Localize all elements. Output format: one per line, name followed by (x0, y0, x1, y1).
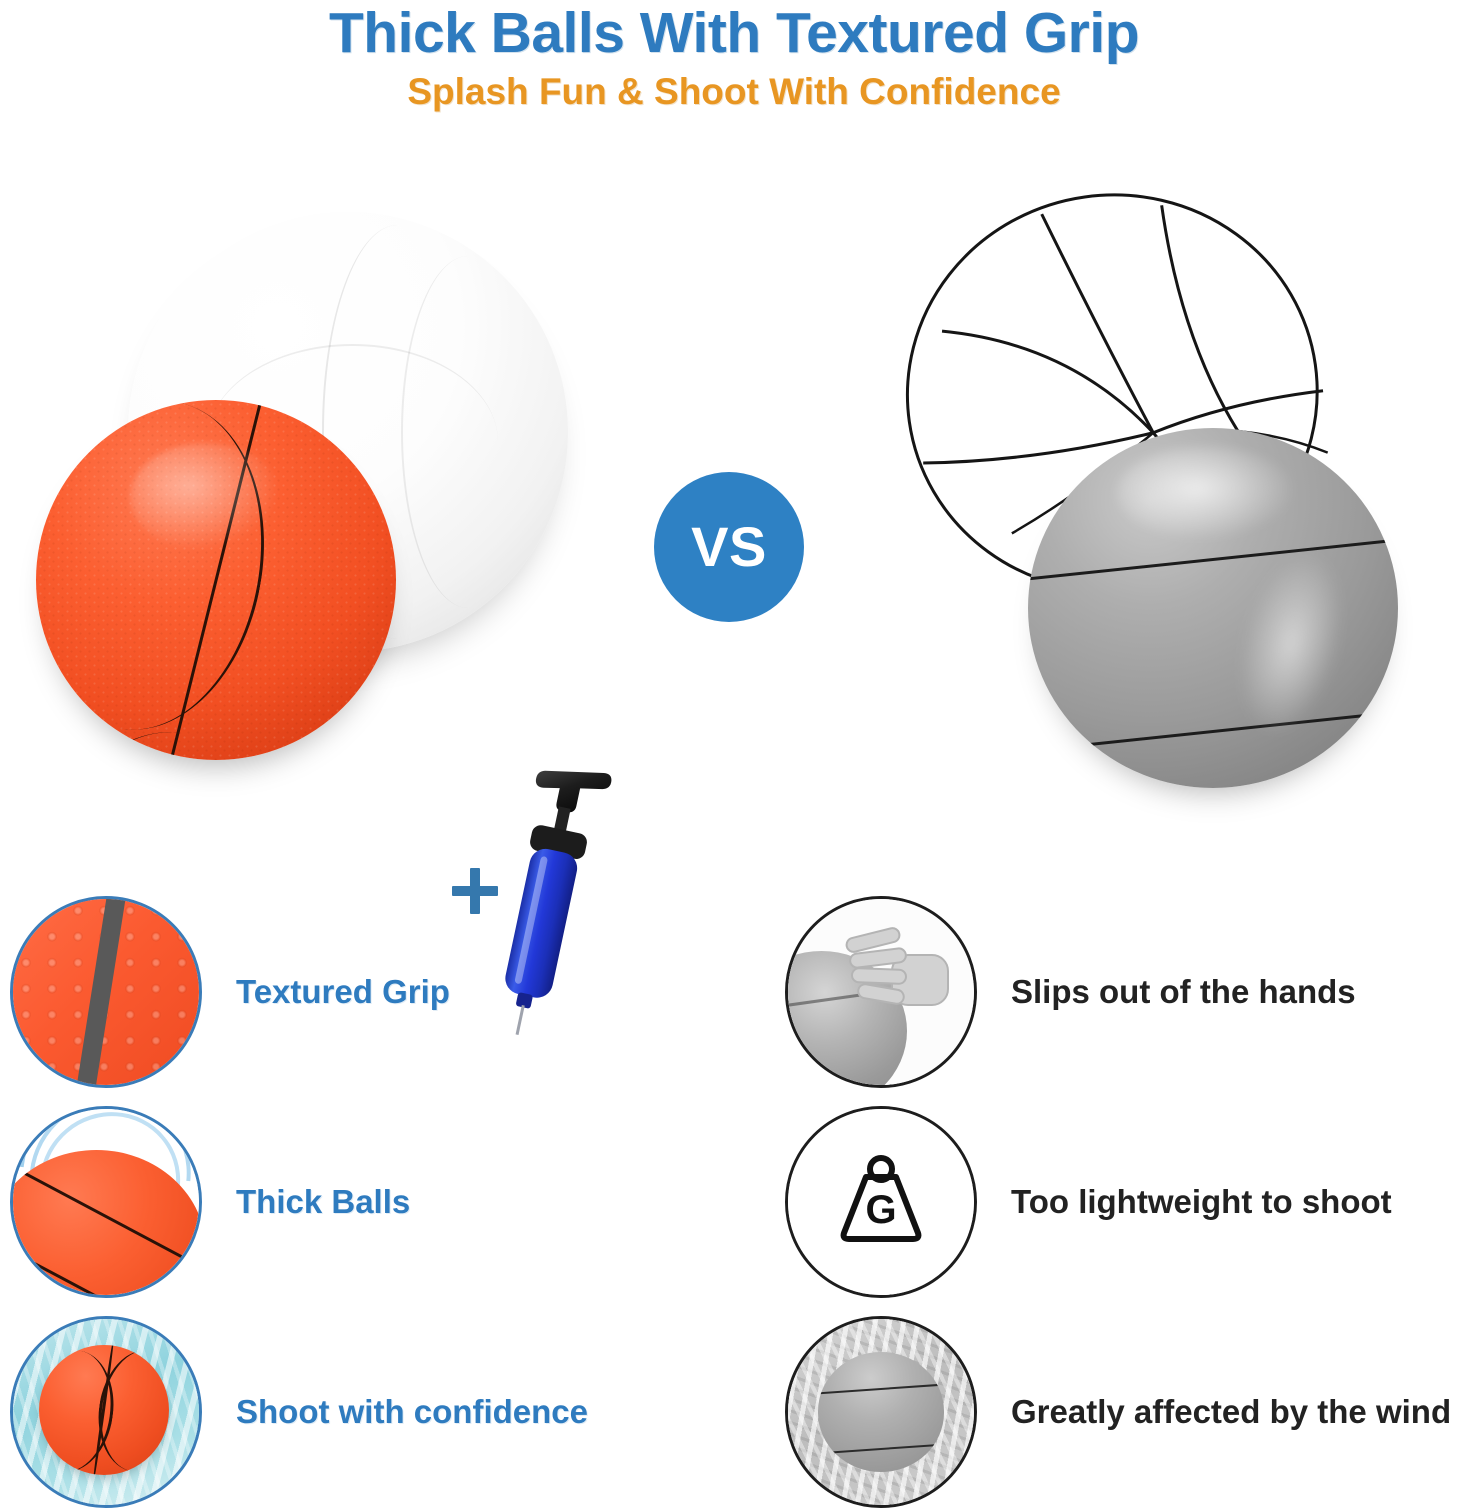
page-subtitle: Splash Fun & Shoot With Confidence (0, 72, 1468, 113)
feature-label: Thick Balls (236, 1183, 410, 1221)
feature-label: Greatly affected by the wind (1011, 1393, 1451, 1431)
basketball-seam (818, 1383, 944, 1395)
gray-basketball-image (1028, 428, 1398, 788)
feature-row-too-lightweight: G Too lightweight to shoot (785, 1102, 1392, 1302)
highlight (130, 443, 281, 551)
weight-icon-wrap: G (788, 1109, 974, 1295)
hand-and-ball-photo (788, 899, 974, 1085)
feature-row-shoot-confidence: Shoot with confidence (10, 1312, 588, 1512)
feature-row-affected-by-wind: Greatly affected by the wind (785, 1312, 1451, 1512)
grip-texture (13, 899, 199, 1085)
highlight (1117, 446, 1295, 540)
feature-label: Too lightweight to shoot (1011, 1183, 1392, 1221)
page-title: Thick Balls With Textured Grip (0, 4, 1468, 64)
thick-ball-bounce-icon (10, 1106, 202, 1298)
vs-badge: VS (654, 472, 804, 622)
basketball-seam (10, 1217, 202, 1298)
textured-grip-macro-icon (10, 896, 202, 1088)
orange-basketball-image (36, 400, 396, 760)
weight-letter: G (865, 1188, 896, 1232)
seam-stripe (71, 896, 131, 1088)
feature-row-thick-balls: Thick Balls (10, 1102, 410, 1302)
feature-label: Slips out of the hands (1011, 973, 1356, 1011)
feature-label: Shoot with confidence (236, 1393, 588, 1431)
vs-label: VS (691, 519, 767, 575)
ball-in-water-icon (10, 1316, 202, 1508)
pump-handle (531, 762, 612, 820)
basketball-seam (1028, 710, 1398, 755)
motion-arcs (13, 1109, 199, 1295)
basketball-seam (818, 1443, 944, 1455)
feature-row-slips-hands: Slips out of the hands (785, 892, 1356, 1092)
gray-water-surface (788, 1319, 974, 1505)
hero-comparison-stage: VS (0, 150, 1468, 880)
hand-slipping-ball-icon (785, 896, 977, 1088)
gray-ball-in-water-icon (785, 1316, 977, 1508)
hand-svg (788, 899, 974, 1085)
feature-comparison-grid: Textured Grip Thick Balls (0, 884, 1468, 1500)
gray-ball (818, 1352, 944, 1471)
header: Thick Balls With Textured Grip Splash Fu… (0, 0, 1468, 113)
water-surface (13, 1319, 199, 1505)
basketball-seam (1028, 537, 1398, 582)
weight-svg: G (826, 1147, 936, 1257)
orange-ball (39, 1345, 169, 1475)
weight-gram-icon: G (785, 1106, 977, 1298)
feature-label: Textured Grip (236, 973, 450, 1011)
feature-row-textured-grip: Textured Grip (10, 892, 450, 1092)
